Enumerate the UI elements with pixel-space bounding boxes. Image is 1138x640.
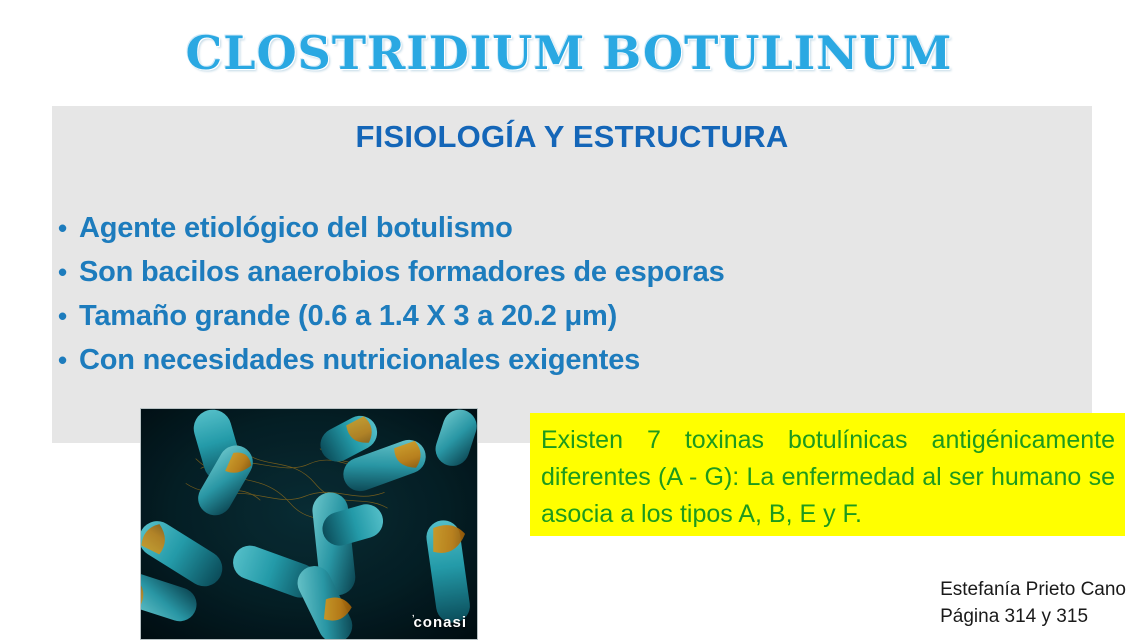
list-item: • Con necesidades nutricionales exigente… (58, 344, 1088, 388)
bullet-dot-icon: • (58, 259, 79, 285)
bullet-list: • Agente etiológico del botulismo • Son … (58, 212, 1088, 388)
watermark-label: conasi (413, 614, 467, 631)
bullet-text: Son bacilos anaerobios formadores de esp… (79, 256, 1088, 289)
bacteria-micrograph-image: ʼconasi (140, 408, 478, 640)
conasi-watermark: ʼconasi (412, 613, 467, 631)
bullet-text: Tamaño grande (0.6 a 1.4 X 3 a 20.2 μm) (79, 300, 1088, 333)
bullet-dot-icon: • (58, 215, 79, 241)
presentation-slide: CLOSTRIDIUM BOTULINUM FISIOLOGÍA Y ESTRU… (0, 0, 1138, 640)
bullet-text: Con necesidades nutricionales exigentes (79, 344, 1088, 377)
highlighted-callout: Existen 7 toxinas botulínicas antigénica… (530, 413, 1125, 536)
bullet-text: Agente etiológico del botulismo (79, 212, 1088, 245)
list-item: • Agente etiológico del botulismo (58, 212, 1088, 256)
slide-title: CLOSTRIDIUM BOTULINUM (0, 26, 1138, 80)
credits-block: Estefanía Prieto Cano Página 314 y 315 (940, 576, 1126, 630)
bacteria-illustration (141, 409, 477, 639)
section-heading: FISIOLOGÍA Y ESTRUCTURA (52, 119, 1092, 155)
page-reference: Página 314 y 315 (940, 603, 1126, 630)
callout-text: Existen 7 toxinas botulínicas antigénica… (541, 422, 1115, 533)
bullet-dot-icon: • (58, 303, 79, 329)
bullet-dot-icon: • (58, 347, 79, 373)
content-panel: FISIOLOGÍA Y ESTRUCTURA • Agente etiológ… (52, 106, 1092, 443)
list-item: • Tamaño grande (0.6 a 1.4 X 3 a 20.2 μm… (58, 300, 1088, 344)
list-item: • Son bacilos anaerobios formadores de e… (58, 256, 1088, 300)
author-name: Estefanía Prieto Cano (940, 576, 1126, 603)
